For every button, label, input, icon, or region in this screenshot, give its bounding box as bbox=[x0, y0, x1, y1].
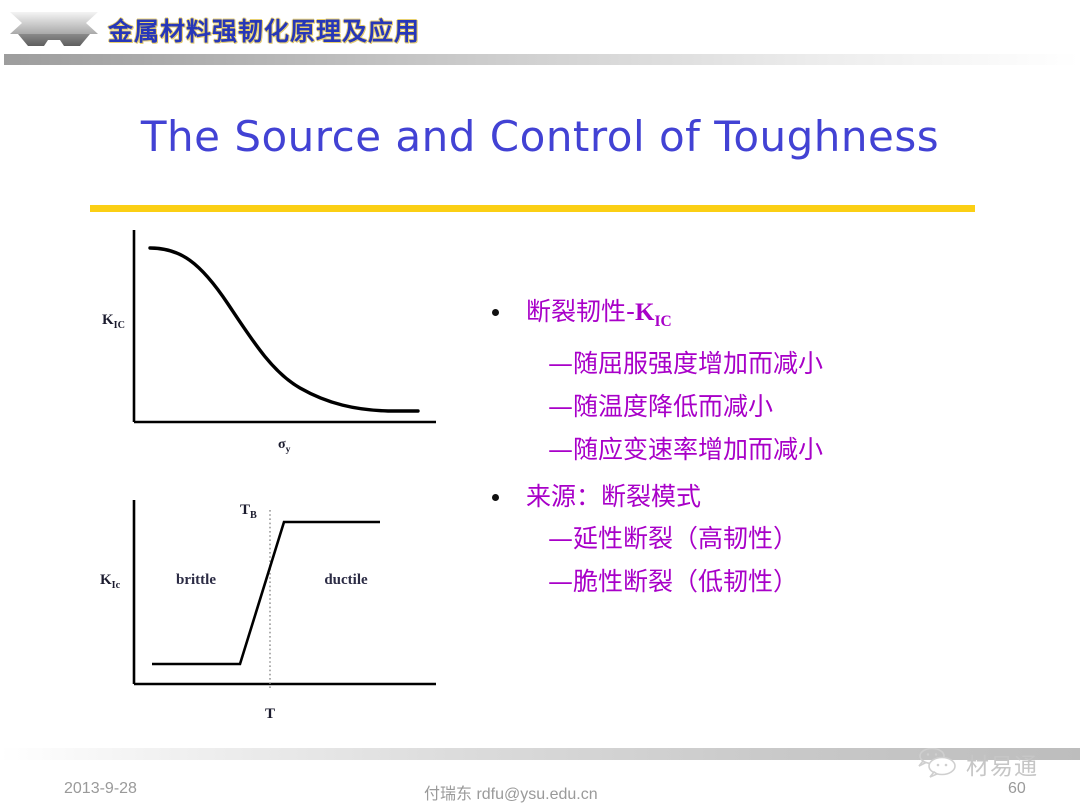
chart1-x-axis-label: σy bbox=[278, 437, 291, 455]
chat-bubbles-icon bbox=[912, 748, 964, 778]
chart2-x-axis-label: T bbox=[265, 706, 275, 722]
watermark: 材易通 bbox=[912, 746, 1072, 780]
chart2-transition-label: TB bbox=[240, 502, 257, 521]
bullet-sub-item-2-1: —延性断裂（高韧性） bbox=[486, 517, 1046, 560]
chart-fracture-toughness-vs-yield-strength: KIC σy bbox=[88, 222, 458, 472]
bullet-group-1: 断裂韧性-KIC —随屈服强度增加而减小 —随温度降低而减小 —随应变速率增加而… bbox=[486, 292, 1046, 471]
page-title: The Source and Control of Toughness bbox=[0, 112, 1080, 161]
bullet-sub-item-1-1: —随屈服强度增加而减小 bbox=[486, 342, 1046, 385]
chart1-y-axis-label: KIC bbox=[102, 312, 125, 331]
bullet-main-item-1: 断裂韧性-KIC bbox=[486, 292, 1046, 342]
header-divider-bar bbox=[4, 54, 1080, 65]
footer-author: 付瑞东 rdfu@ysu.edu.cn bbox=[424, 780, 598, 804]
title-underline-rule bbox=[90, 205, 975, 212]
bullet-dot-icon bbox=[492, 309, 499, 316]
bullet-main-text-1: 断裂韧性- bbox=[526, 297, 635, 326]
chart-fracture-toughness-vs-temperature: KIc T TB brittle ductile bbox=[88, 488, 458, 738]
footer-page-number: 60 bbox=[1008, 780, 1026, 798]
header-title: 金属材料强韧化原理及应用 bbox=[108, 12, 420, 48]
bullet-symbol-subscript-1: IC bbox=[654, 313, 671, 330]
bullet-sub-item-1-2: —随温度降低而减小 bbox=[486, 385, 1046, 428]
bullet-dot-icon bbox=[492, 494, 499, 501]
bullet-sub-item-1-3: —随应变速率增加而减小 bbox=[486, 428, 1046, 471]
chart1-curve bbox=[150, 248, 418, 411]
chart2-region-label-brittle: brittle bbox=[176, 572, 216, 588]
bullet-sub-item-2-2: —脆性断裂（低韧性） bbox=[486, 560, 1046, 603]
bullet-list: 断裂韧性-KIC —随屈服强度增加而减小 —随温度降低而减小 —随应变速率增加而… bbox=[486, 292, 1046, 609]
bullet-symbol-1: K bbox=[635, 299, 654, 326]
chart2-y-axis-label: KIc bbox=[100, 572, 121, 591]
chart2-region-label-ductile: ductile bbox=[324, 572, 368, 588]
footer-date: 2013-9-28 bbox=[64, 780, 137, 798]
ribbon-banner-icon bbox=[8, 10, 100, 52]
bullet-group-2: 来源：断裂模式 —延性断裂（高韧性） —脆性断裂（低韧性） bbox=[486, 477, 1046, 603]
watermark-text: 材易通 bbox=[966, 747, 1038, 781]
bullet-main-item-2: 来源：断裂模式 bbox=[486, 477, 1046, 517]
slide-header: 金属材料强韧化原理及应用 bbox=[0, 0, 1080, 72]
bullet-main-text-2: 来源：断裂模式 bbox=[526, 482, 701, 511]
chart2-curve bbox=[152, 522, 380, 664]
